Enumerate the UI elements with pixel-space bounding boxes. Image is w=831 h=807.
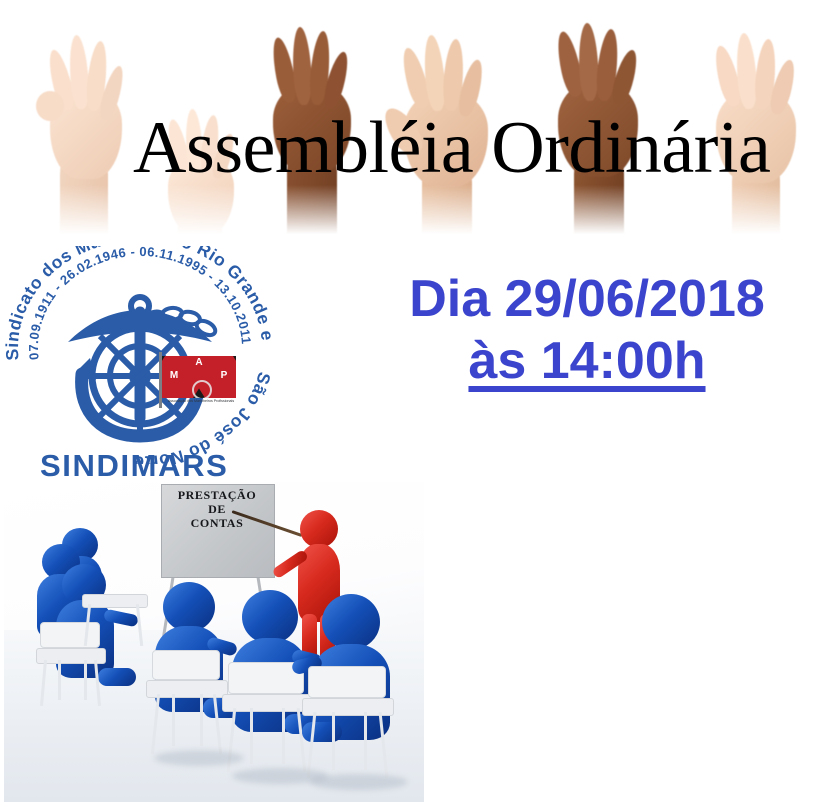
- attendee-head: [242, 590, 298, 644]
- chair: [144, 650, 232, 760]
- banner-fade: [0, 185, 831, 245]
- event-time: às 14:00h: [352, 330, 822, 392]
- meeting-illustration: PRESTAÇÃO DE CONTAS: [4, 482, 424, 802]
- page-title: Assembléia Ordinária: [133, 108, 831, 188]
- event-date: Dia 29/06/2018: [352, 268, 822, 330]
- union-flag-icon: A M P Associação dos Marinheiros Profiss…: [159, 352, 239, 414]
- organization-name: SINDIMARS: [40, 448, 228, 484]
- event-date-block: Dia 29/06/2018 às 14:00h: [352, 268, 822, 392]
- flag-letter-a: A: [184, 357, 214, 370]
- flag-anchor-icon: [192, 380, 212, 398]
- flag-letter-m: M: [167, 370, 181, 383]
- board-line-1: PRESTAÇÃO: [161, 488, 273, 502]
- flag-caption: Associação dos Marinheiros Profissionais: [165, 399, 237, 403]
- attendee-head: [163, 582, 215, 632]
- flag-cloth: A M P: [162, 356, 236, 398]
- assembly-notice-poster: Assembléia Ordinária Sindicato dos Marít…: [0, 0, 831, 807]
- floor-shadow: [310, 774, 408, 790]
- floor-shadow: [154, 750, 244, 766]
- board-text: PRESTAÇÃO DE CONTAS: [161, 488, 273, 530]
- board-line-2: DE: [161, 502, 273, 516]
- chair: [82, 594, 150, 674]
- attendee-head: [322, 594, 380, 650]
- presenter-head: [300, 510, 338, 548]
- chair: [300, 666, 398, 786]
- flag-letter-p: P: [217, 370, 231, 383]
